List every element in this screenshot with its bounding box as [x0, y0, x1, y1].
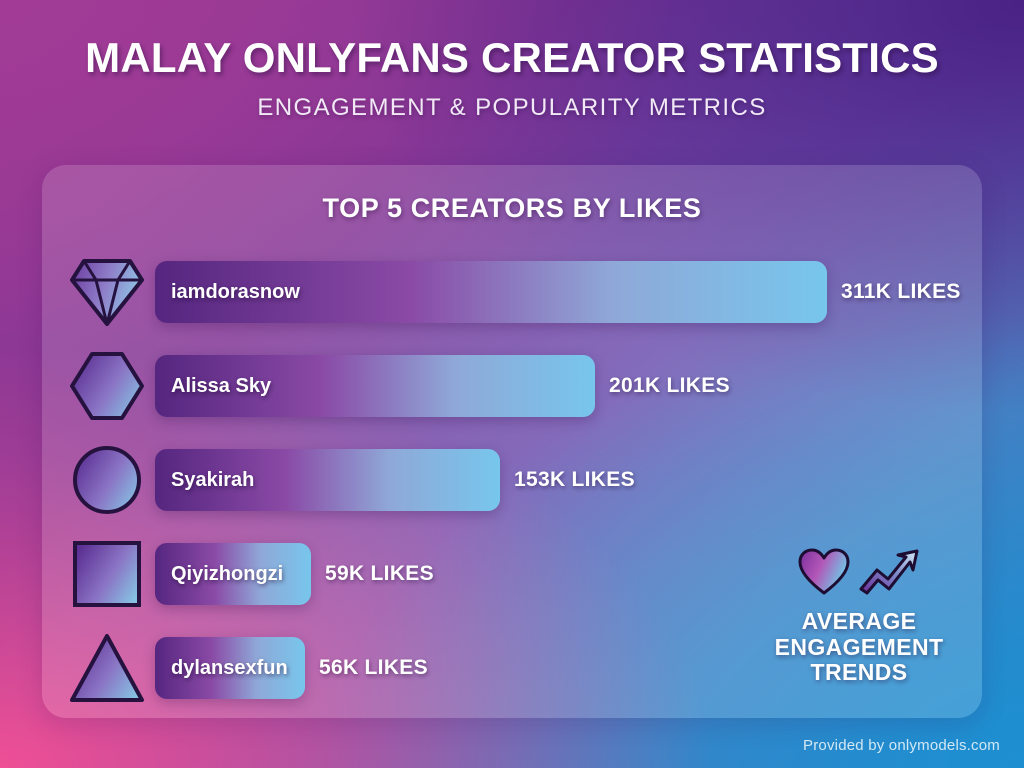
- footer-credit: Provided by onlymodels.com: [803, 737, 1000, 754]
- infographic-canvas: MALAY ONLYFANS CREATOR STATISTICS ENGAGE…: [0, 0, 1024, 768]
- bar[interactable]: iamdorasnow: [155, 261, 827, 323]
- bar-label: iamdorasnow: [171, 281, 300, 304]
- bar-wrap: Qiyizhongzi 59K LIKES: [155, 543, 434, 605]
- trends-label-line3: TRENDS: [764, 660, 954, 686]
- bar-value: 201K LIKES: [609, 374, 730, 398]
- triangle-icon: [61, 630, 153, 706]
- page-subtitle: ENGAGEMENT & POPULARITY METRICS: [0, 94, 1024, 122]
- bar-label: Qiyizhongzi: [171, 563, 283, 586]
- bar-label: Alissa Sky: [171, 375, 271, 398]
- bar-value: 153K LIKES: [514, 468, 635, 492]
- chart-row[interactable]: iamdorasnow 311K LIKES: [42, 245, 982, 339]
- bar-wrap: Syakirah 153K LIKES: [155, 449, 635, 511]
- bar-value: 311K LIKES: [841, 280, 961, 304]
- heart-icon: [798, 548, 850, 601]
- bar-label: Syakirah: [171, 469, 254, 492]
- bar-wrap: Alissa Sky 201K LIKES: [155, 355, 730, 417]
- page-title: MALAY ONLYFANS CREATOR STATISTICS: [0, 34, 1024, 82]
- bar-wrap: iamdorasnow 311K LIKES: [155, 261, 961, 323]
- bar[interactable]: dylansexfun: [155, 637, 305, 699]
- trending-up-arrow-icon: [858, 548, 920, 601]
- chart-title: TOP 5 CREATORS BY LIKES: [42, 193, 982, 224]
- bar[interactable]: Alissa Sky: [155, 355, 595, 417]
- bar-label: dylansexfun: [171, 657, 288, 680]
- average-engagement-trends: AVERAGE ENGAGEMENT TRENDS: [764, 548, 954, 686]
- square-icon: [61, 536, 153, 612]
- chart-row[interactable]: Syakirah 153K LIKES: [42, 433, 982, 527]
- chart-row[interactable]: Alissa Sky 201K LIKES: [42, 339, 982, 433]
- bar-value: 56K LIKES: [319, 656, 428, 680]
- bar-wrap: dylansexfun 56K LIKES: [155, 637, 428, 699]
- chart-card: TOP 5 CREATORS BY LIKES: [42, 165, 982, 718]
- circle-icon: [61, 442, 153, 518]
- hexagon-icon: [61, 348, 153, 424]
- diamond-icon: [61, 254, 153, 330]
- bar[interactable]: Syakirah: [155, 449, 500, 511]
- trends-label-line2: ENGAGEMENT: [764, 635, 954, 661]
- trends-icon-group: [764, 548, 954, 601]
- trends-label-line1: AVERAGE: [764, 609, 954, 635]
- bar[interactable]: Qiyizhongzi: [155, 543, 311, 605]
- bar-value: 59K LIKES: [325, 562, 434, 586]
- header: MALAY ONLYFANS CREATOR STATISTICS ENGAGE…: [0, 34, 1024, 122]
